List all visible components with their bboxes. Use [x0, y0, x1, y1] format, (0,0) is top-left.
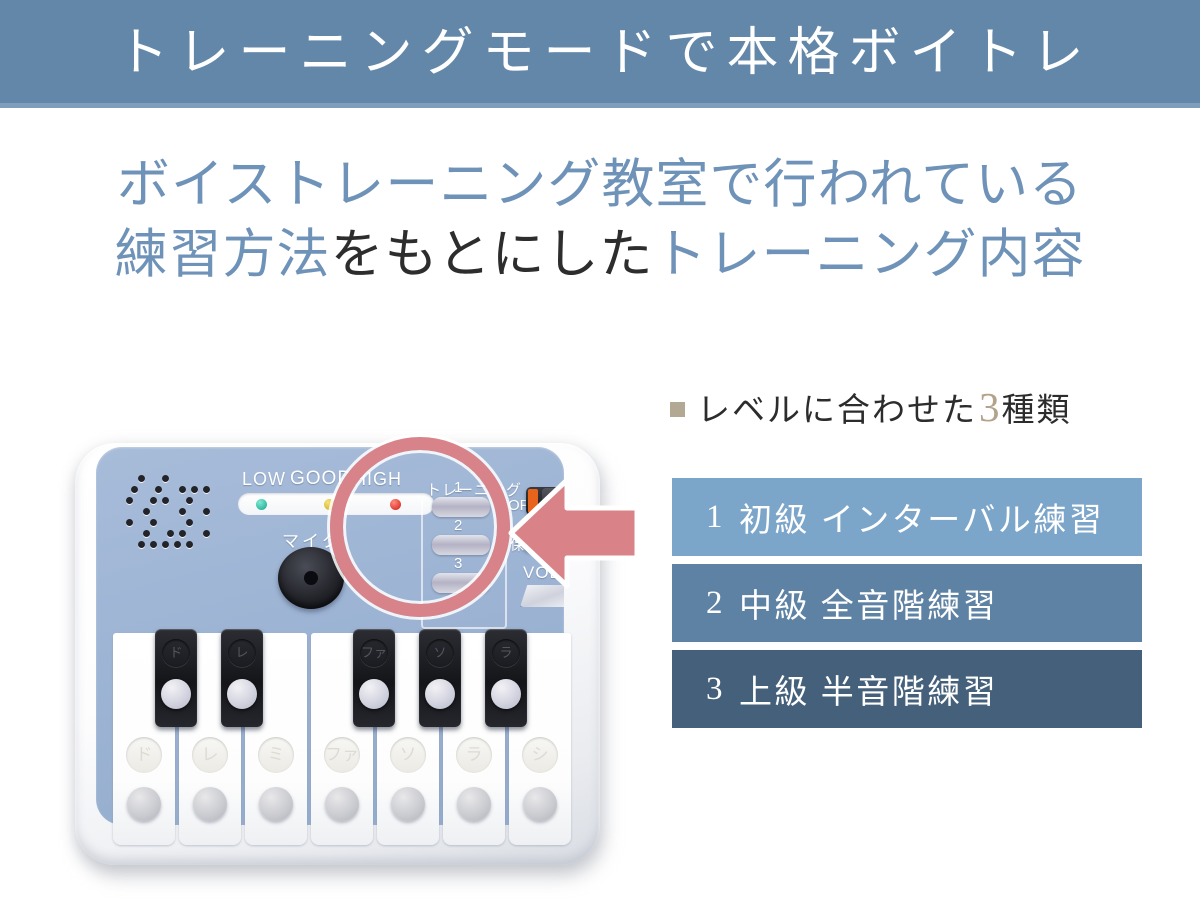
- led-good-icon: [324, 499, 335, 510]
- training-button-1-number: 1: [454, 479, 462, 496]
- subtitle-line-2: 練習方法をもとにしたトレーニング内容: [0, 220, 1200, 290]
- subtitle-line-2-part-b: をもとにした: [331, 226, 654, 284]
- header-band: トレーニングモードで本格ボイトレ: [0, 0, 1200, 108]
- level-bar-1[interactable]: 1 初級 インターバル練習: [672, 478, 1142, 556]
- subtitle-line-2-part-c: トレーニング内容: [653, 226, 1085, 284]
- level-bar-1-number: 1: [706, 499, 725, 536]
- level-bar-2-label: 中級 全音階練習: [739, 579, 998, 627]
- training-button-3[interactable]: [432, 573, 490, 593]
- levels-heading-count: 3: [977, 383, 1002, 431]
- led-high-icon: [390, 499, 401, 510]
- subtitle-line-1: ボイストレーニング教室で行われている: [0, 150, 1200, 220]
- training-button-2[interactable]: [432, 535, 490, 555]
- levels-section: レベルに合わせた 3 種類 1 初級 インターバル練習 2 中級 全音階練習 3…: [672, 383, 1144, 431]
- level-bar-1-label: 初級 インターバル練習: [739, 493, 1104, 541]
- levels-heading-prefix: レベルに合わせた: [697, 383, 977, 431]
- microphone-icon[interactable]: [278, 547, 344, 609]
- level-bar-2-number: 2: [706, 585, 725, 622]
- bullet-square-icon: [670, 402, 685, 417]
- subtitle-line-2-part-a: 練習方法: [115, 226, 331, 284]
- level-bar-3-label: 上級 半音階練習: [739, 665, 998, 713]
- training-group-frame: [421, 499, 507, 629]
- level-bar-3[interactable]: 3 上級 半音階練習: [672, 650, 1142, 728]
- device-control-panel: LOW GOOD HIGH マイク トレーニング 1 2 3 OFF ON 保 …: [96, 447, 564, 825]
- meter-label-low: LOW: [242, 469, 286, 490]
- levels-heading: レベルに合わせた 3 種類: [670, 383, 1144, 431]
- infographic-page: トレーニングモードで本格ボイトレ ボイストレーニング教室で行われている 練習方法…: [0, 0, 1200, 918]
- level-bar-3-number: 3: [706, 671, 725, 708]
- training-button-2-number: 2: [454, 517, 462, 534]
- meter-label-high: HIGH: [353, 469, 402, 490]
- training-button-1[interactable]: [432, 497, 490, 517]
- levels-heading-suffix: 種類: [1002, 383, 1072, 431]
- speaker-grill-icon: [122, 471, 218, 555]
- meter-label-good: GOOD: [290, 468, 352, 490]
- page-title: トレーニングモードで本格ボイトレ: [107, 28, 1092, 80]
- pointer-arrow-icon: [505, 474, 641, 592]
- level-meter-strip: [238, 493, 434, 515]
- subtitle-block: ボイストレーニング教室で行われている 練習方法をもとにしたトレーニング内容: [0, 150, 1200, 291]
- levels-bar-list: 1 初級 インターバル練習 2 中級 全音階練習 3 上級 半音階練習: [672, 478, 1142, 736]
- led-low-icon: [256, 499, 267, 510]
- level-bar-2[interactable]: 2 中級 全音階練習: [672, 564, 1142, 642]
- training-button-3-number: 3: [454, 555, 462, 572]
